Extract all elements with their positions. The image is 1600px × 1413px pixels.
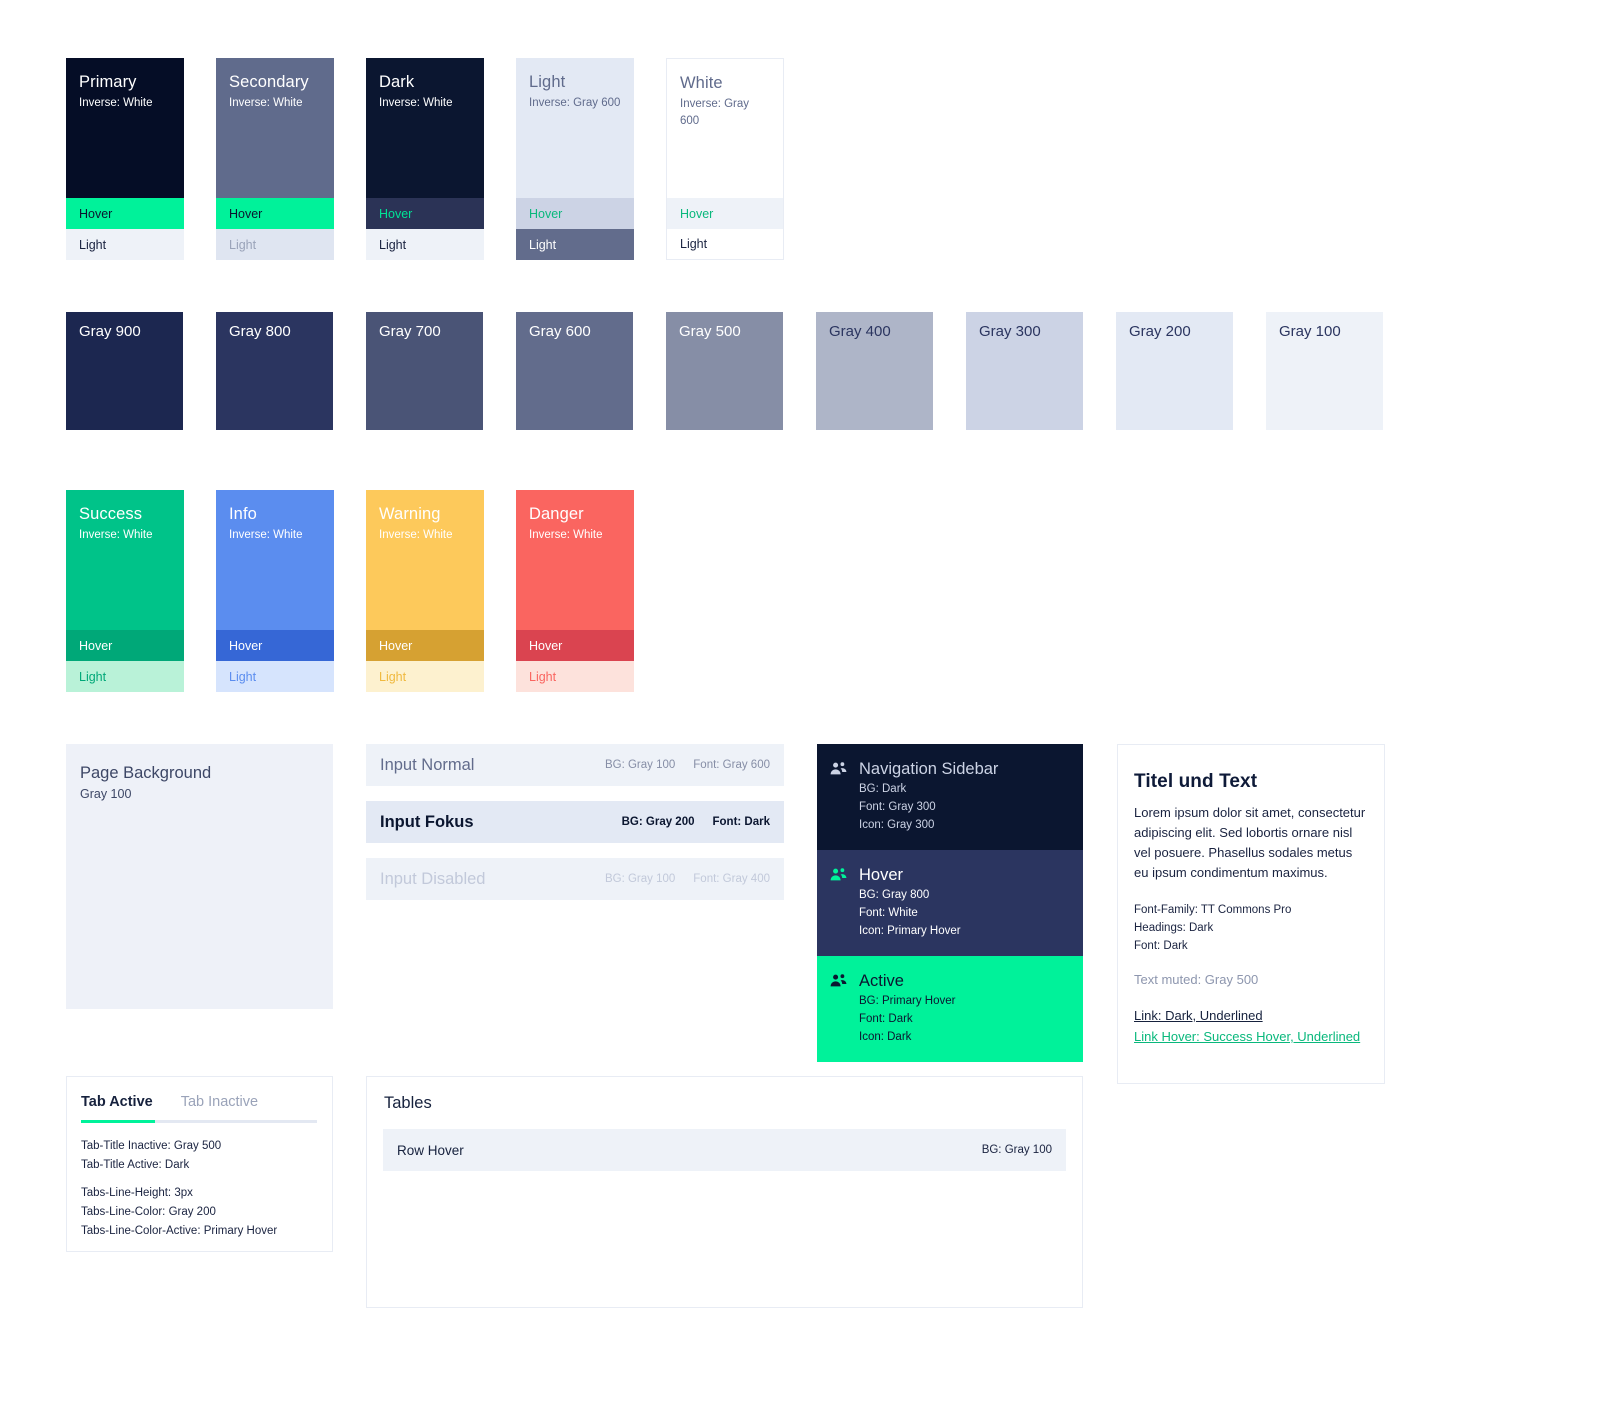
swatch-hover-band: Hover	[516, 198, 634, 229]
swatch-name: Primary	[79, 72, 171, 93]
input-input-normal[interactable]: Input NormalBG: Gray 100Font: Gray 600	[366, 744, 784, 786]
tabs-header: Tab Active Tab Inactive	[67, 1077, 332, 1120]
table-row[interactable]: Row Hover BG: Gray 100	[383, 1129, 1066, 1171]
swatch-light-band: Light	[366, 661, 484, 692]
gray-swatch-gray-600: Gray 600	[516, 312, 633, 430]
tab-inactive[interactable]: Tab Inactive	[181, 1094, 258, 1120]
swatch-name: Success	[79, 504, 171, 525]
tabs-card: Tab Active Tab Inactive Tab-Title Inacti…	[66, 1076, 333, 1252]
swatch-base: LightInverse: Gray 600	[516, 58, 634, 198]
link-hover[interactable]: Link Hover: Success Hover, Underlined	[1134, 1026, 1366, 1047]
swatch-inverse-label: Inverse: Gray 600	[680, 96, 770, 130]
gray-swatch-gray-100: Gray 100	[1266, 312, 1383, 430]
color-swatch-info: InfoInverse: WhiteHoverLight	[216, 490, 334, 692]
gray-swatch-gray-500: Gray 500	[666, 312, 783, 430]
sidebar-item-spec: Font: Gray 300	[859, 798, 998, 816]
tab-spec: Tabs-Line-Height: 3px	[81, 1184, 332, 1203]
swatch-base: InfoInverse: White	[216, 490, 334, 630]
swatch-light-band: Light	[666, 229, 784, 260]
color-swatch-white: WhiteInverse: Gray 600HoverLight	[666, 58, 784, 260]
brand-palette-row: PrimaryInverse: WhiteHoverLightSecondary…	[66, 58, 784, 260]
swatch-name: Danger	[529, 504, 621, 525]
color-swatch-warning: WarningInverse: WhiteHoverLight	[366, 490, 484, 692]
sidebar-item-icon	[817, 758, 859, 834]
sidebar-item-spec: Font: Dark	[859, 1010, 956, 1028]
gray-swatch-gray-800: Gray 800	[216, 312, 333, 430]
sidebar-item-spec: BG: Dark	[859, 780, 998, 798]
swatch-base: DangerInverse: White	[516, 490, 634, 630]
sidebar-item-label: Active	[859, 970, 956, 992]
sidebar-item-icon	[817, 864, 859, 940]
swatch-hover-band: Hover	[366, 198, 484, 229]
gray-swatch-gray-900: Gray 900	[66, 312, 183, 430]
swatch-light-band: Light	[216, 661, 334, 692]
swatch-inverse-label: Inverse: White	[229, 527, 321, 544]
link-normal[interactable]: Link: Dark, Underlined	[1134, 1005, 1366, 1026]
tables-title: Tables	[367, 1077, 1082, 1113]
swatch-name: Light	[529, 72, 621, 93]
swatch-light-band: Light	[66, 229, 184, 260]
sidebar-item-spec: BG: Primary Hover	[859, 992, 956, 1010]
swatch-name: Warning	[379, 504, 471, 525]
swatch-base: SuccessInverse: White	[66, 490, 184, 630]
semantic-palette-row: SuccessInverse: WhiteHoverLightInfoInver…	[66, 490, 634, 692]
swatch-inverse-label: Inverse: White	[229, 95, 321, 112]
tabs-specs: Tab-Title Inactive: Gray 500Tab-Title Ac…	[67, 1123, 332, 1241]
sidebar-item-text: ActiveBG: Primary HoverFont: DarkIcon: D…	[859, 970, 956, 1046]
tab-spec: Tabs-Line-Color-Active: Primary Hover	[81, 1222, 332, 1241]
sidebar-item-spec: Icon: Primary Hover	[859, 922, 961, 940]
sidebar-item-icon	[817, 970, 859, 1046]
style-guide-page: PrimaryInverse: WhiteHoverLightSecondary…	[0, 0, 1600, 1413]
spec-font: Font: Dark	[1134, 937, 1366, 955]
swatch-light-band: Light	[366, 229, 484, 260]
color-swatch-light: LightInverse: Gray 600HoverLight	[516, 58, 634, 260]
swatch-hover-band: Hover	[216, 630, 334, 661]
input-meta: BG: Gray 100Font: Gray 600	[605, 759, 770, 771]
swatch-light-band: Light	[216, 229, 334, 260]
navigation-sidebar-card: Navigation SidebarBG: DarkFont: Gray 300…	[817, 744, 1083, 1062]
page-background-card: Page Background Gray 100	[66, 744, 333, 1009]
swatch-inverse-label: Inverse: White	[79, 527, 171, 544]
tabs-underline-active	[81, 1120, 155, 1123]
tab-spec: Tab-Title Inactive: Gray 500	[81, 1137, 332, 1156]
input-meta-font: Font: Gray 400	[693, 873, 770, 885]
spec-font-family: Font-Family: TT Commons Pro	[1134, 901, 1366, 919]
sidebar-item-text: HoverBG: Gray 800Font: WhiteIcon: Primar…	[859, 864, 961, 940]
swatch-hover-band: Hover	[366, 630, 484, 661]
tabs-underline	[81, 1120, 317, 1123]
input-meta: BG: Gray 100Font: Gray 400	[605, 873, 770, 885]
sidebar-item-hover[interactable]: HoverBG: Gray 800Font: WhiteIcon: Primar…	[817, 850, 1083, 956]
swatch-base: PrimaryInverse: White	[66, 58, 184, 198]
typography-card: Titel und Text Lorem ipsum dolor sit ame…	[1117, 744, 1385, 1084]
gray-swatch-gray-300: Gray 300	[966, 312, 1083, 430]
color-swatch-success: SuccessInverse: WhiteHoverLight	[66, 490, 184, 692]
swatch-light-band: Light	[66, 661, 184, 692]
sidebar-item-spec: Icon: Dark	[859, 1028, 956, 1046]
typography-heading: Titel und Text	[1134, 771, 1366, 793]
users-icon	[830, 868, 847, 940]
color-swatch-secondary: SecondaryInverse: WhiteHoverLight	[216, 58, 334, 260]
swatch-base: WhiteInverse: Gray 600	[666, 58, 784, 198]
input-meta-bg: BG: Gray 200	[622, 816, 695, 828]
input-meta-font: Font: Dark	[713, 816, 771, 828]
sidebar-item-label: Hover	[859, 864, 961, 886]
sidebar-item-label: Navigation Sidebar	[859, 758, 998, 780]
swatch-name: Info	[229, 504, 321, 525]
color-swatch-dark: DarkInverse: WhiteHoverLight	[366, 58, 484, 260]
swatch-inverse-label: Inverse: White	[79, 95, 171, 112]
tab-spec: Tab-Title Active: Dark	[81, 1156, 332, 1175]
tab-spec: Tabs-Line-Color: Gray 200	[81, 1203, 332, 1222]
swatch-name: Secondary	[229, 72, 321, 93]
sidebar-item-text: Navigation SidebarBG: DarkFont: Gray 300…	[859, 758, 998, 834]
swatch-light-band: Light	[516, 661, 634, 692]
swatch-name: White	[680, 73, 770, 94]
swatch-hover-band: Hover	[666, 198, 784, 229]
input-states-group: Input NormalBG: Gray 100Font: Gray 600In…	[366, 744, 784, 915]
sidebar-item-navigation-sidebar[interactable]: Navigation SidebarBG: DarkFont: Gray 300…	[817, 744, 1083, 850]
input-label: Input Fokus	[380, 813, 622, 832]
gray-swatch-gray-700: Gray 700	[366, 312, 483, 430]
input-meta: BG: Gray 200Font: Dark	[622, 816, 770, 828]
input-meta-bg: BG: Gray 100	[605, 759, 675, 771]
input-label: Input Disabled	[380, 870, 605, 889]
users-icon	[830, 762, 847, 834]
spec-headings: Headings: Dark	[1134, 919, 1366, 937]
users-icon	[830, 974, 847, 1046]
swatch-hover-band: Hover	[66, 630, 184, 661]
swatch-inverse-label: Inverse: Gray 600	[529, 95, 621, 112]
swatch-inverse-label: Inverse: White	[529, 527, 621, 544]
swatch-hover-band: Hover	[516, 630, 634, 661]
tab-spec-gap	[81, 1175, 332, 1184]
color-swatch-danger: DangerInverse: WhiteHoverLight	[516, 490, 634, 692]
swatch-light-band: Light	[516, 229, 634, 260]
sidebar-item-spec: BG: Gray 800	[859, 886, 961, 904]
input-meta-font: Font: Gray 600	[693, 759, 770, 771]
input-input-disabled: Input DisabledBG: Gray 100Font: Gray 400	[366, 858, 784, 900]
swatch-inverse-label: Inverse: White	[379, 527, 471, 544]
page-background-value: Gray 100	[66, 783, 333, 801]
sidebar-item-spec: Font: White	[859, 904, 961, 922]
text-muted-sample: Text muted: Gray 500	[1134, 972, 1366, 987]
swatch-base: SecondaryInverse: White	[216, 58, 334, 198]
swatch-base: DarkInverse: White	[366, 58, 484, 198]
input-label: Input Normal	[380, 756, 605, 775]
swatch-inverse-label: Inverse: White	[379, 95, 471, 112]
gray-scale-row: Gray 900Gray 800Gray 700Gray 600Gray 500…	[66, 312, 1416, 430]
sidebar-item-spec: Icon: Gray 300	[859, 816, 998, 834]
input-input-fokus[interactable]: Input FokusBG: Gray 200Font: Dark	[366, 801, 784, 843]
table-row-label: Row Hover	[397, 1143, 982, 1158]
gray-swatch-gray-400: Gray 400	[816, 312, 933, 430]
table-row-meta: BG: Gray 100	[982, 1144, 1052, 1156]
typography-specs: Font-Family: TT Commons Pro Headings: Da…	[1134, 901, 1366, 955]
tab-active[interactable]: Tab Active	[81, 1094, 153, 1120]
input-meta-bg: BG: Gray 100	[605, 873, 675, 885]
page-background-title: Page Background	[66, 744, 333, 783]
typography-paragraph: Lorem ipsum dolor sit amet, consectetur …	[1134, 803, 1366, 883]
swatch-base: WarningInverse: White	[366, 490, 484, 630]
sidebar-item-active[interactable]: ActiveBG: Primary HoverFont: DarkIcon: D…	[817, 956, 1083, 1062]
gray-swatch-gray-200: Gray 200	[1116, 312, 1233, 430]
link-samples: Link: Dark, Underlined Link Hover: Succe…	[1134, 1005, 1366, 1047]
swatch-name: Dark	[379, 72, 471, 93]
color-swatch-primary: PrimaryInverse: WhiteHoverLight	[66, 58, 184, 260]
swatch-hover-band: Hover	[66, 198, 184, 229]
tables-card: Tables Row Hover BG: Gray 100	[366, 1076, 1083, 1308]
swatch-hover-band: Hover	[216, 198, 334, 229]
